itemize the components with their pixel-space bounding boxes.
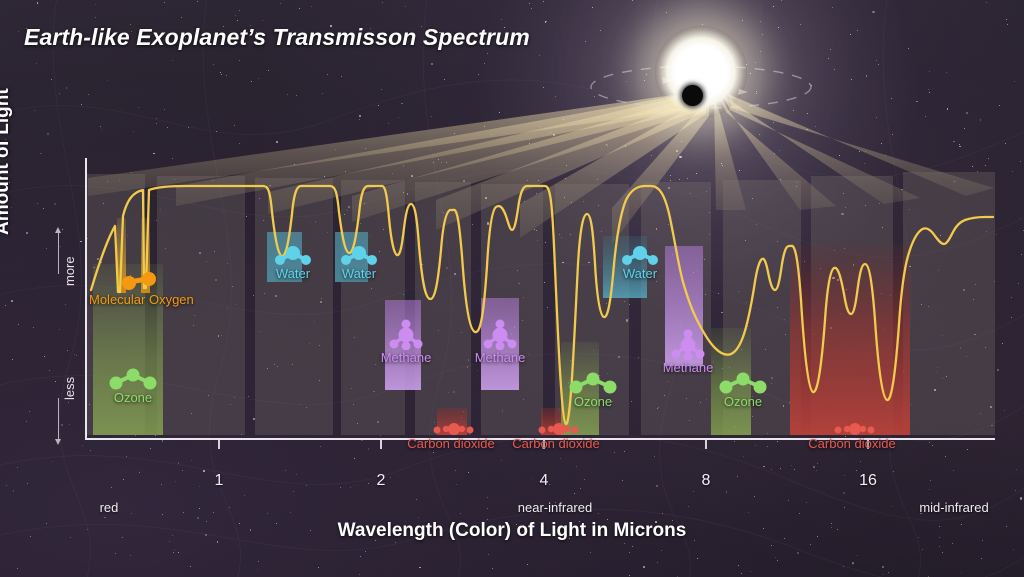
annotation-label: Carbon dioxide — [501, 436, 611, 451]
o3-molecule-icon — [103, 368, 163, 390]
ch4-molecule-icon — [467, 318, 533, 350]
transiting-planet — [682, 85, 703, 106]
annotation-methane-3: Methane — [655, 328, 721, 375]
annotation-molecular-oxygen: Molecular Oxygen — [89, 270, 189, 307]
x-label-red: red — [100, 500, 119, 515]
annotation-label: Molecular Oxygen — [89, 292, 189, 307]
annotation-water-2: Water — [332, 246, 386, 281]
x-tick-label-8: 8 — [702, 472, 711, 490]
ch4-molecule-icon — [373, 318, 439, 350]
y-axis-more-label: more — [62, 256, 77, 286]
x-tick-label-2: 2 — [377, 472, 386, 490]
annotation-label: Methane — [373, 350, 439, 365]
page-title: Earth-like Exoplanet’s Transmisson Spect… — [24, 24, 530, 51]
annotation-ozone-1: Ozone — [103, 368, 163, 405]
annotation-label: Ozone — [563, 394, 623, 409]
h2o-molecule-icon — [613, 246, 667, 266]
annotation-carbon-dioxide-2: Carbon dioxide — [501, 422, 611, 451]
y-axis-title: Amount of Light — [0, 15, 14, 235]
host-star — [655, 26, 747, 118]
x-tick-1 — [218, 440, 220, 449]
infographic-canvas: Amount of Light more less 1 2 4 8 16 red… — [0, 0, 1024, 577]
y-axis-down-arrow — [58, 398, 59, 440]
annotation-ozone-2: Ozone — [563, 372, 623, 409]
o2-molecule-icon — [111, 270, 167, 292]
co2-molecule-icon — [501, 422, 611, 436]
annotation-label: Methane — [467, 350, 533, 365]
annotation-water-3: Water — [613, 246, 667, 281]
annotation-water-1: Water — [266, 246, 320, 281]
spectrum-plot — [85, 160, 995, 435]
x-tick-8 — [705, 440, 707, 449]
annotation-methane-1: Methane — [373, 318, 439, 365]
co2-molecule-icon — [396, 422, 506, 436]
annotation-label: Water — [332, 266, 386, 281]
o3-molecule-icon — [563, 372, 623, 394]
x-tick-label-1: 1 — [215, 472, 224, 490]
annotation-carbon-dioxide-3: Carbon dioxide — [797, 422, 907, 451]
annotation-label: Carbon dioxide — [797, 436, 907, 451]
x-tick-label-4: 4 — [540, 472, 549, 490]
annotation-label: Ozone — [103, 390, 163, 405]
y-axis-up-arrow — [58, 232, 59, 274]
co2-molecule-icon — [797, 422, 907, 436]
annotation-methane-2: Methane — [467, 318, 533, 365]
transmission-spectrum-curve — [85, 160, 995, 435]
h2o-molecule-icon — [332, 246, 386, 266]
x-tick-2 — [380, 440, 382, 449]
x-label-near-infrared: near-infrared — [518, 500, 592, 515]
annotation-label: Water — [266, 266, 320, 281]
o3-molecule-icon — [713, 372, 773, 394]
annotation-label: Ozone — [713, 394, 773, 409]
y-axis-line — [85, 158, 87, 440]
ch4-molecule-icon — [655, 328, 721, 360]
annotation-label: Methane — [655, 360, 721, 375]
x-tick-label-16: 16 — [859, 472, 877, 490]
annotation-label: Carbon dioxide — [396, 436, 506, 451]
h2o-molecule-icon — [266, 246, 320, 266]
x-axis-title: Wavelength (Color) of Light in Microns — [0, 520, 1024, 542]
annotation-carbon-dioxide-1: Carbon dioxide — [396, 422, 506, 451]
y-axis-less-label: less — [62, 377, 77, 400]
annotation-ozone-3: Ozone — [713, 372, 773, 409]
x-label-mid-infrared: mid-infrared — [919, 500, 988, 515]
annotation-label: Water — [613, 266, 667, 281]
